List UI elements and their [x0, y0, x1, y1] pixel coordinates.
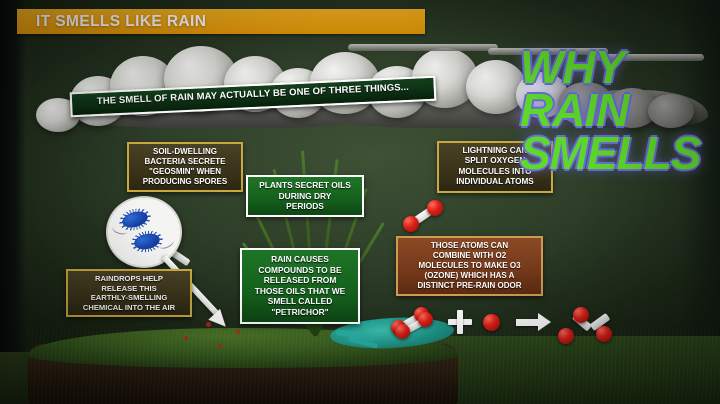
callout-line: PRODUCING SPORES	[133, 177, 237, 187]
callout-line: THOSE OILS THAT WE	[245, 286, 355, 297]
callout-line: CHEMICAL INTO THE AIR	[72, 303, 186, 313]
infographic-stage: SOIL-DWELLING BACTERIA SECRETE "GEOSMIN"…	[0, 0, 720, 404]
headline-banner-label: IT SMELLS LIKE RAIN	[17, 9, 425, 34]
callout-line: RAIN CAUSES	[245, 254, 355, 265]
callout-line: (OZONE) WHICH HAS A	[402, 271, 537, 281]
title-line-rain: RAIN	[520, 89, 720, 132]
callout-line: RAINDROPS HELP	[72, 274, 186, 284]
callout-line: PERIODS	[252, 201, 358, 212]
ozone-atom	[558, 328, 574, 344]
callout-line: DISTINCT PRE-RAIN ODOR	[402, 281, 537, 291]
callout-line: THOSE ATOMS CAN	[402, 241, 537, 251]
callout-geosmin: SOIL-DWELLING BACTERIA SECRETE "GEOSMIN"…	[127, 142, 243, 192]
callout-line: MOLECULES TO MAKE O3	[402, 261, 537, 271]
ozone-atom	[573, 307, 589, 323]
callout-line: SMELL CALLED	[245, 296, 355, 307]
callout-ozone: THOSE ATOMS CAN COMBINE WITH O2 MOLECULE…	[396, 236, 543, 296]
bacteria-icon	[133, 231, 162, 251]
callout-line: COMPOUNDS TO BE	[245, 265, 355, 276]
callout-line: RELEASE THIS	[72, 284, 186, 294]
title-line-smells: SMELLS	[520, 132, 720, 175]
plus-icon	[448, 310, 472, 334]
callout-line: EARTHLY-SMELLING	[72, 293, 186, 303]
callout-line: DURING DRY	[252, 191, 358, 202]
callout-line: "PETRICHOR"	[245, 307, 355, 318]
ozone-atom	[596, 326, 612, 342]
title-overlay: WHY RAIN SMELLS	[520, 46, 720, 174]
callout-line: COMBINE WITH O2	[402, 251, 537, 261]
callout-line: SOIL-DWELLING	[133, 147, 237, 157]
oxygen-atom	[483, 314, 500, 331]
title-line-why: WHY	[520, 46, 720, 89]
callout-line: BACTERIA SECRETE	[133, 157, 237, 167]
headline-banner: IT SMELLS LIKE RAIN	[17, 9, 425, 34]
callout-plant-oils: PLANTS SECRET OILS DURING DRY PERIODS	[246, 175, 364, 217]
geosmin-particle	[218, 344, 222, 348]
callout-line: RELEASED FROM	[245, 275, 355, 286]
callout-line: PLANTS SECRET OILS	[252, 180, 358, 191]
callout-line: "GEOSMIN" WHEN	[133, 167, 237, 177]
callout-petrichor: RAIN CAUSES COMPOUNDS TO BE RELEASED FRO…	[240, 248, 360, 324]
callout-raindrops-release: RAINDROPS HELP RELEASE THIS EARTHLY-SMEL…	[66, 269, 192, 317]
reaction-arrow-icon	[516, 313, 554, 331]
